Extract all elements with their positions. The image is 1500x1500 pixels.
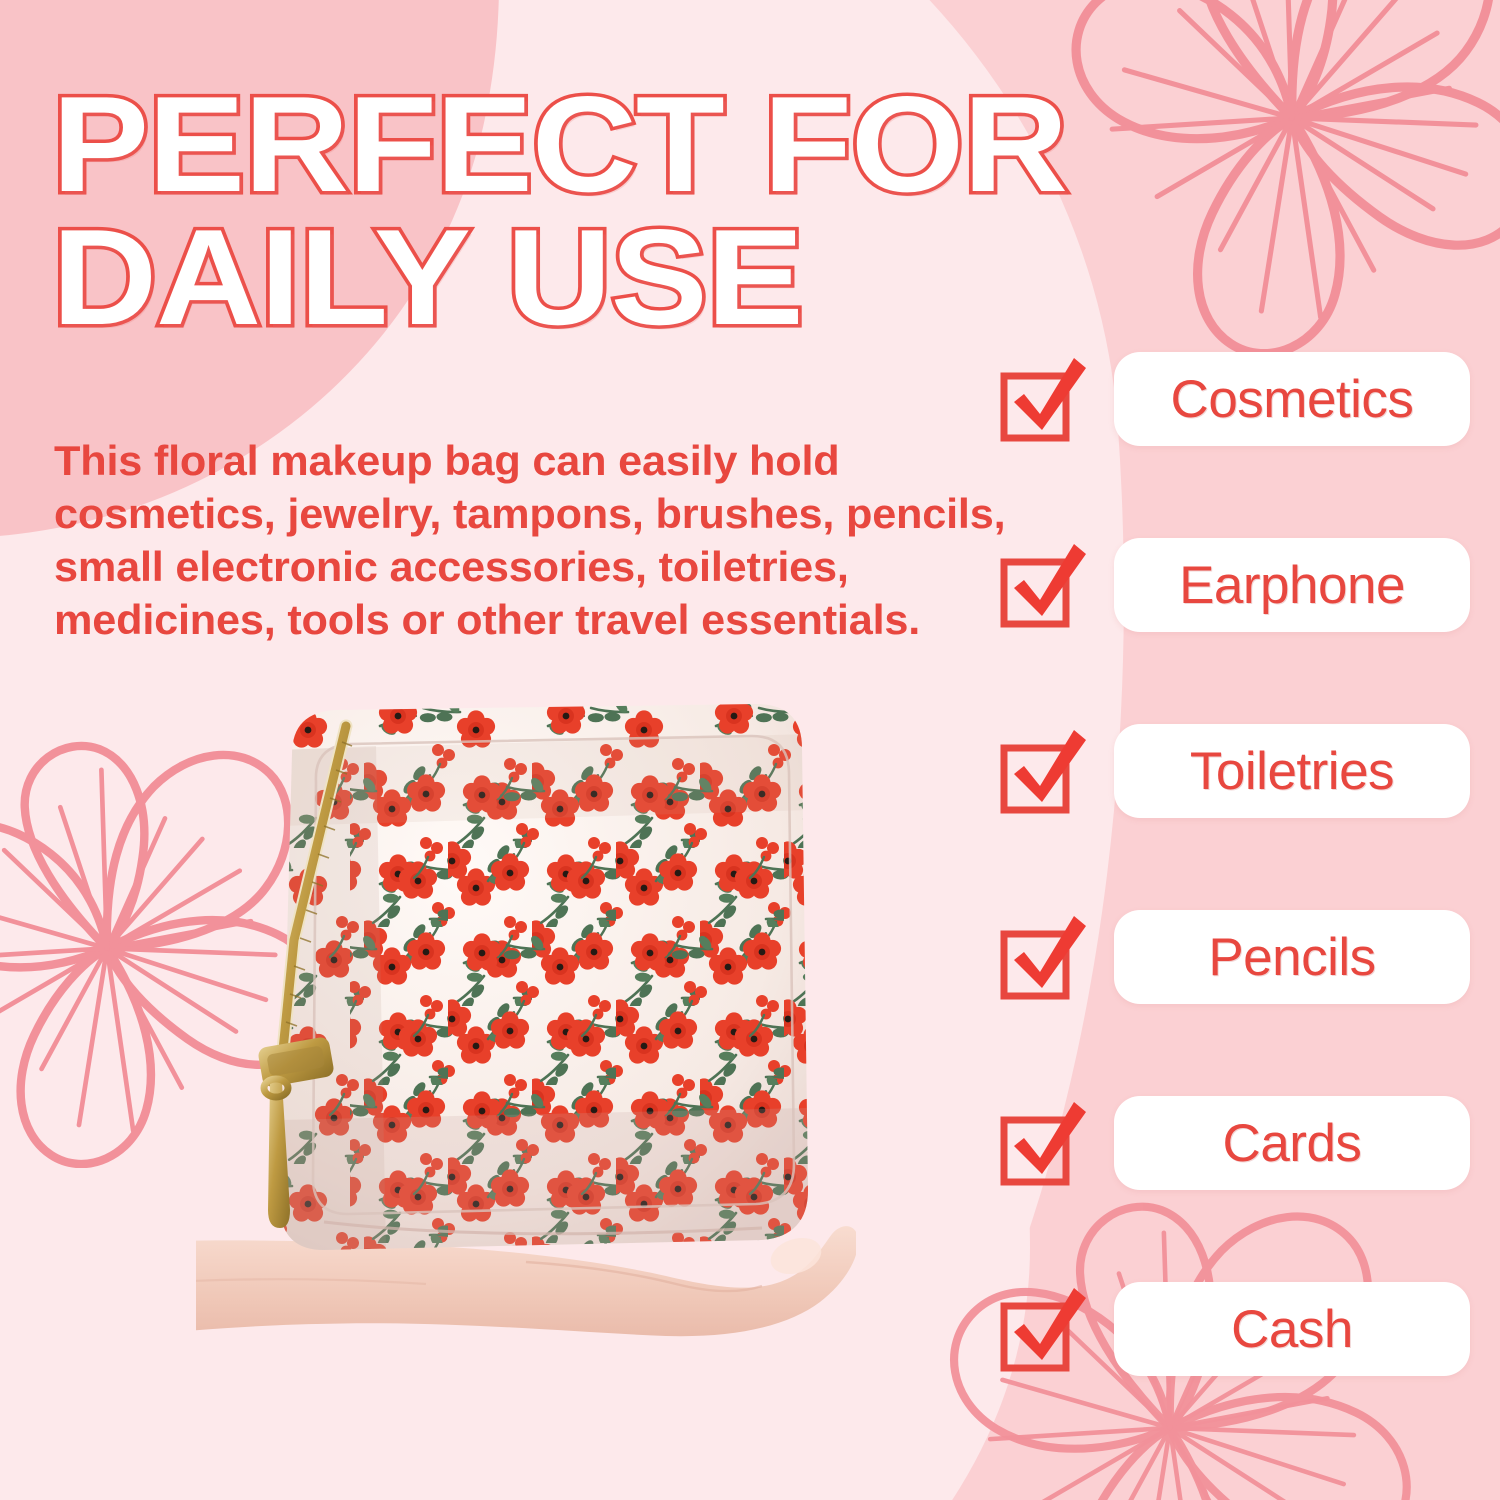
checklist-pill[interactable]: Pencils bbox=[1114, 910, 1470, 1004]
headline-line-2: DAILY USE bbox=[52, 211, 1101, 344]
checklist-item[interactable]: Pencils bbox=[1000, 910, 1470, 1004]
headline-line-1: PERFECT FOR bbox=[52, 78, 1101, 211]
checklist-item[interactable]: Cash bbox=[1000, 1282, 1470, 1376]
checkbox-checked-icon[interactable] bbox=[1000, 1286, 1090, 1372]
checklist-item[interactable]: Toiletries bbox=[1000, 724, 1470, 818]
product-image-floral-makeup-bag bbox=[196, 690, 856, 1390]
checklist-item[interactable]: Earphone bbox=[1000, 538, 1470, 632]
product-infographic: PERFECT FOR DAILY USE This floral makeup… bbox=[0, 0, 1500, 1500]
description-paragraph: This floral makeup bag can easily hold c… bbox=[54, 434, 1027, 646]
checklist-pill[interactable]: Cosmetics bbox=[1114, 352, 1470, 446]
checklist-item-label: Toiletries bbox=[1190, 745, 1394, 798]
checkbox-checked-icon[interactable] bbox=[1000, 728, 1090, 814]
feature-checklist: Cosmetics Earphone Toiletr bbox=[1000, 352, 1470, 1376]
checklist-pill[interactable]: Cash bbox=[1114, 1282, 1470, 1376]
checkbox-checked-icon[interactable] bbox=[1000, 356, 1090, 442]
checkbox-checked-icon[interactable] bbox=[1000, 914, 1090, 1000]
page-title: PERFECT FOR DAILY USE bbox=[52, 78, 1032, 344]
checklist-item-label: Cash bbox=[1231, 1303, 1353, 1356]
checkbox-checked-icon[interactable] bbox=[1000, 1100, 1090, 1186]
checklist-item-label: Cosmetics bbox=[1171, 373, 1414, 426]
checklist-item-label: Pencils bbox=[1208, 931, 1375, 984]
checklist-item[interactable]: Cards bbox=[1000, 1096, 1470, 1190]
checklist-item-label: Cards bbox=[1223, 1117, 1362, 1170]
checklist-pill[interactable]: Toiletries bbox=[1114, 724, 1470, 818]
checkbox-checked-icon[interactable] bbox=[1000, 542, 1090, 628]
checklist-item[interactable]: Cosmetics bbox=[1000, 352, 1470, 446]
hibiscus-flower-icon-top-right bbox=[1032, 0, 1500, 358]
checklist-pill[interactable]: Earphone bbox=[1114, 538, 1470, 632]
checklist-item-label: Earphone bbox=[1179, 559, 1405, 612]
checklist-pill[interactable]: Cards bbox=[1114, 1096, 1470, 1190]
